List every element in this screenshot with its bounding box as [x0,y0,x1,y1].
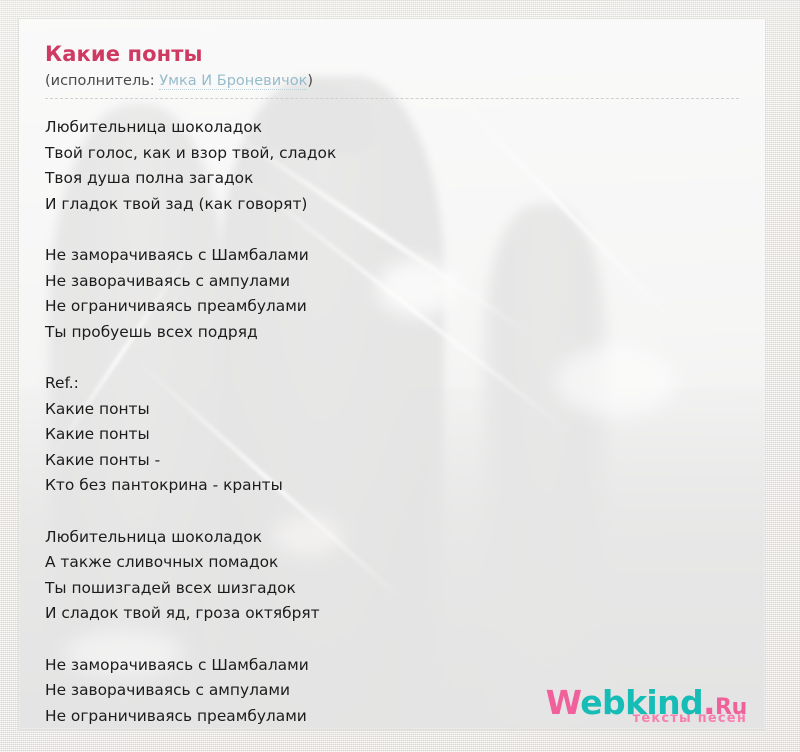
artist-prefix-label: (исполнитель: [45,73,159,89]
song-content: Какие понты (исполнитель: Умка И Броневи… [19,19,765,730]
logo-letter-w: W [546,683,581,722]
artist-link[interactable]: Умка И Броневичок [159,73,307,90]
artist-suffix-label: ) [307,73,313,89]
song-card: Какие понты (исполнитель: Умка И Броневи… [18,18,766,730]
artist-line: (исполнитель: Умка И Броневичок) [45,72,739,91]
site-logo[interactable]: Webkind.Ru тексты песен [546,686,747,725]
page-title: Какие понты [45,41,739,67]
lyrics-text: Любительница шоколадок Твой голос, как и… [45,99,739,730]
